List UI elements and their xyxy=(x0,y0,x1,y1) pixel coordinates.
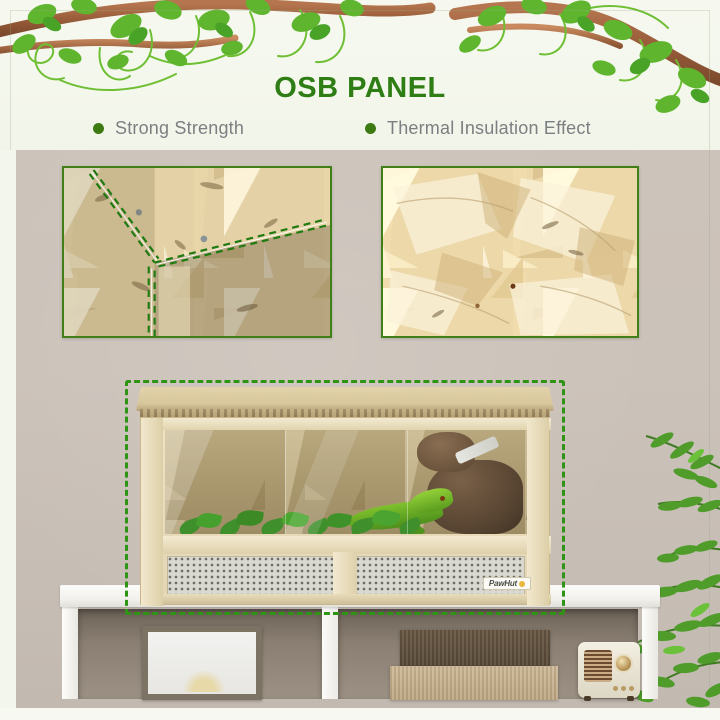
feature-label: Thermal Insulation Effect xyxy=(387,118,591,139)
ventilation-mesh-right xyxy=(355,556,525,596)
terrarium-frame-top xyxy=(141,418,551,430)
radio-feet xyxy=(584,696,634,701)
radio-speaker-grille xyxy=(584,650,612,682)
brand-logo-text: PawHut xyxy=(489,579,517,588)
storage-box-light xyxy=(390,666,558,700)
ventilation-mesh-left xyxy=(167,556,335,596)
osb-specks xyxy=(64,168,330,337)
feature-item-strong-strength: Strong Strength xyxy=(93,118,244,139)
feature-item-thermal-insulation: Thermal Insulation Effect xyxy=(365,118,591,139)
terrarium-lid-osb xyxy=(136,387,554,411)
feature-label: Strong Strength xyxy=(115,118,244,139)
bottom-margin-strip xyxy=(0,708,720,720)
brand-logo: PawHut xyxy=(483,577,531,590)
terrarium-body: PawHut xyxy=(140,417,550,605)
console-side-left xyxy=(62,607,78,699)
page-title: OSB PANEL xyxy=(0,72,720,105)
marketing-infographic: OSB PANEL Strong Strength Thermal Insula… xyxy=(0,0,720,720)
terrarium-glass-front xyxy=(165,430,527,534)
retro-radio xyxy=(578,642,640,698)
terrarium-base-rail xyxy=(141,594,551,604)
product-terrarium: PawHut xyxy=(130,385,560,610)
inset-photo-osb-surface xyxy=(381,166,639,338)
inset-photo-osb-corner xyxy=(62,166,332,338)
feature-list: Strong Strength Thermal Insulation Effec… xyxy=(0,118,720,148)
bullet-dot-icon xyxy=(93,123,104,134)
glass-reflection xyxy=(165,430,527,534)
picture-artwork xyxy=(180,667,228,692)
storage-box-dark xyxy=(400,630,550,670)
terrarium-frame-left xyxy=(141,418,163,606)
framed-picture xyxy=(142,626,262,700)
paw-icon xyxy=(519,581,525,587)
left-margin-strip xyxy=(0,150,16,710)
bullet-dot-icon xyxy=(365,123,376,134)
radio-knobs xyxy=(613,686,634,691)
ventilation-divider xyxy=(333,552,357,600)
radio-dial-icon xyxy=(614,654,633,673)
console-side-right xyxy=(642,607,658,699)
osb-specks xyxy=(383,168,637,337)
picture-canvas xyxy=(148,632,256,694)
console-divider xyxy=(322,607,338,699)
